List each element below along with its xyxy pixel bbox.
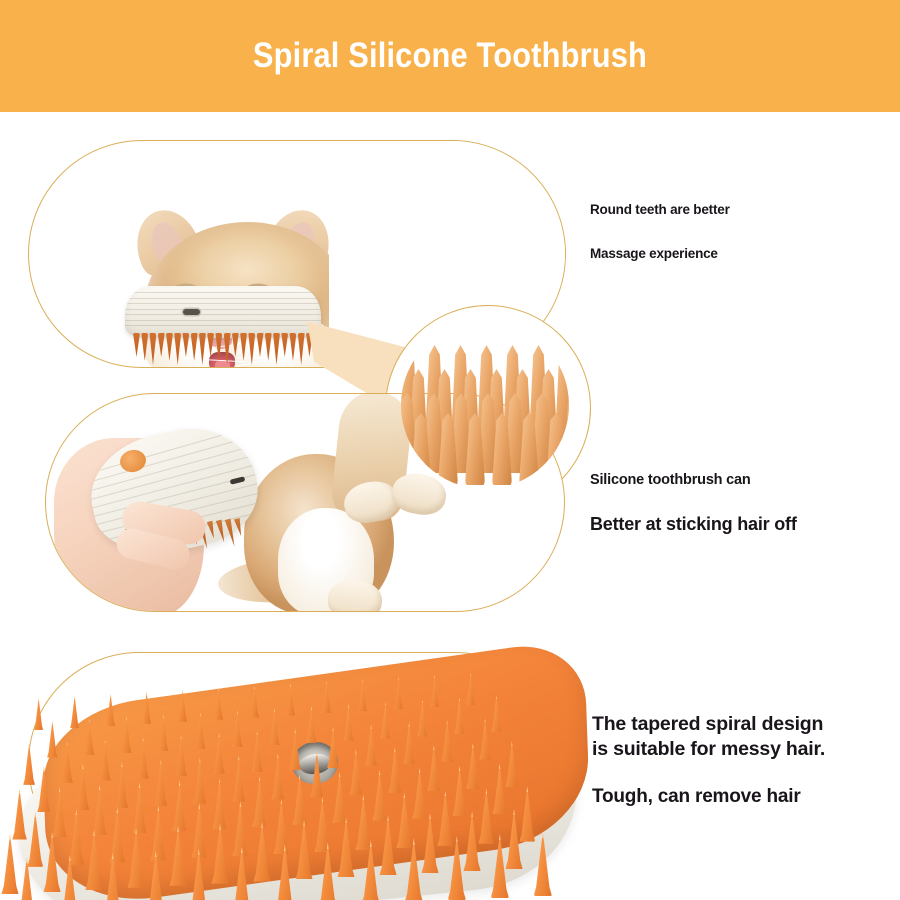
bristle-tooth bbox=[166, 333, 173, 361]
silicone-cone-spike bbox=[1, 834, 18, 894]
brush-ridge-line bbox=[125, 303, 321, 304]
caption-better-sticking-hair: Better at sticking hair off bbox=[590, 514, 797, 535]
bristle-tooth bbox=[257, 333, 264, 357]
bristle-tooth bbox=[281, 333, 288, 357]
brush-ridge-line bbox=[125, 292, 321, 293]
panel-cat-head-brushing bbox=[28, 140, 566, 368]
silicone-cone-spike bbox=[34, 698, 43, 730]
bristle-tooth bbox=[240, 333, 247, 361]
brush-ridge-line bbox=[125, 325, 321, 326]
brush-bristle-row bbox=[133, 333, 313, 367]
bristle-tooth bbox=[207, 333, 214, 357]
bristle-tooth bbox=[158, 333, 165, 357]
brush-ridge-line bbox=[125, 298, 321, 299]
silicone-cone-spike bbox=[70, 696, 79, 728]
page-title: Spiral Silicone Toothbrush bbox=[253, 36, 647, 76]
brush-ridge-line bbox=[125, 309, 321, 310]
header-banner: Spiral Silicone Toothbrush bbox=[0, 0, 900, 112]
bristle-tooth bbox=[191, 333, 198, 361]
bristle-tooth bbox=[199, 333, 206, 365]
bristle-tooth bbox=[234, 518, 244, 537]
bristle-tooth bbox=[182, 333, 189, 357]
bristle-tooth bbox=[215, 333, 222, 361]
bristle-tooth bbox=[216, 519, 227, 543]
bristle-tooth bbox=[224, 333, 231, 365]
bristle-tooth bbox=[207, 520, 217, 539]
usb-c-port-icon bbox=[183, 309, 200, 315]
bristle-tooth bbox=[273, 333, 280, 365]
bristle-tooth bbox=[174, 333, 181, 365]
caption-silicone-toothbrush-can: Silicone toothbrush can bbox=[590, 472, 751, 488]
caption-massage-experience: Massage experience bbox=[590, 246, 718, 261]
caption-tapered-spiral-design: The tapered spiral design is suitable fo… bbox=[592, 712, 825, 762]
bristle-tooth bbox=[265, 333, 272, 361]
caption-round-teeth: Round teeth are better bbox=[590, 202, 730, 217]
bristle-tooth bbox=[141, 333, 148, 361]
product-infographic-page: Spiral Silicone Toothbrush bbox=[0, 0, 900, 900]
bristle-tooth bbox=[248, 333, 255, 365]
caption-tough-remove-hair: Tough, can remove hair bbox=[592, 786, 801, 808]
bristle-tooth bbox=[149, 333, 156, 365]
silicone-cone-spike bbox=[47, 721, 58, 758]
brush-ridge-line bbox=[125, 320, 321, 321]
bristle-tooth bbox=[289, 333, 296, 361]
bristle-tooth bbox=[133, 333, 140, 357]
bristle-tooth bbox=[232, 333, 239, 357]
silicone-cone-spike bbox=[23, 743, 35, 784]
brush-device-body bbox=[125, 286, 321, 338]
brush-ridge-line bbox=[125, 314, 321, 315]
bristle-tooth bbox=[298, 333, 305, 365]
